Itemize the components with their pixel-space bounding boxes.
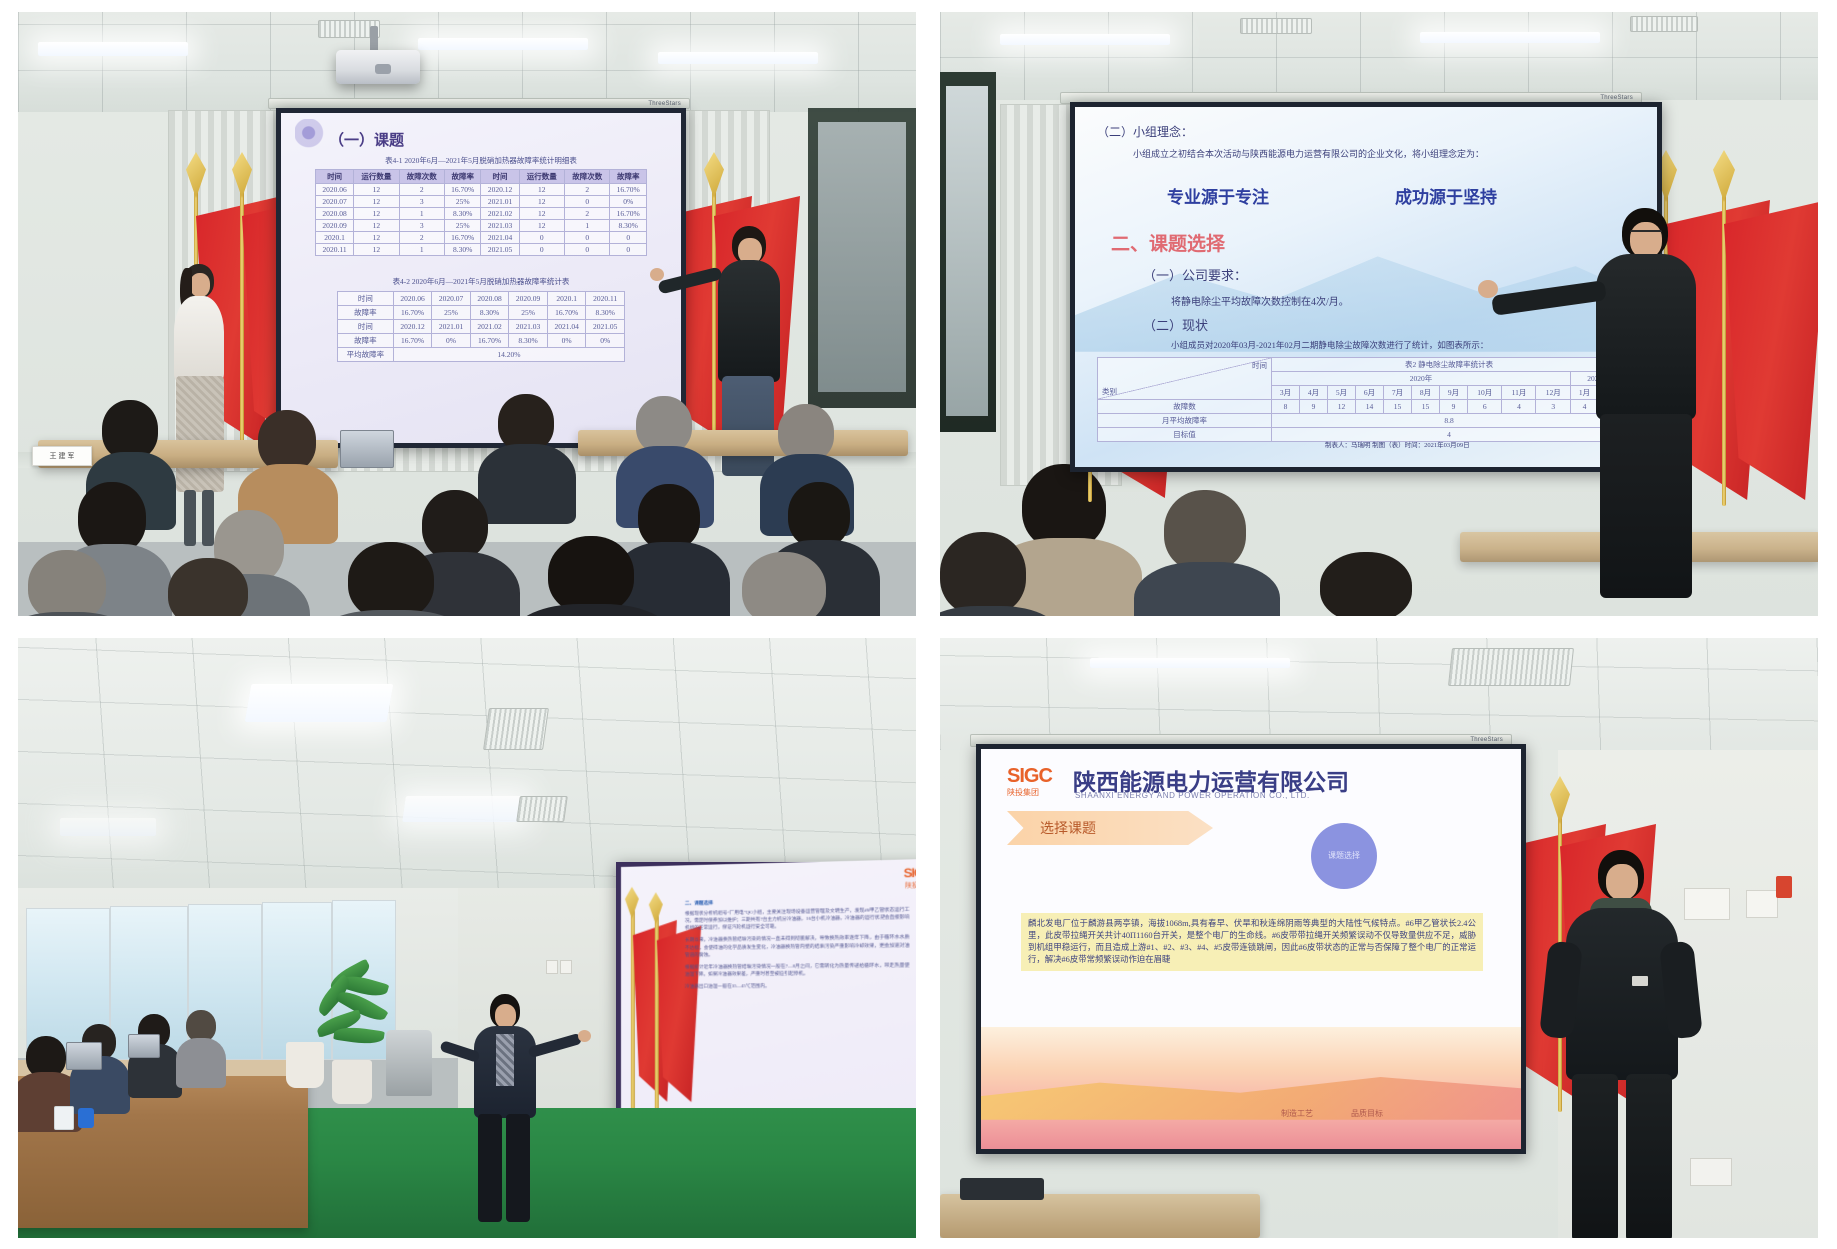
dense-paragraph-2: 长期以来，冷油器换热管结垢污染的情况一直未得到彻底解决，导致换热效率逐年下降，由… — [685, 933, 910, 958]
projector-brand-label: ThreeStars — [648, 101, 681, 107]
fault-count-cell: 14 — [1356, 400, 1384, 414]
table-header-cell: 故障率 — [610, 170, 647, 184]
table-footer-credit: 制表人：马瑞明 制图（表）时间：2021年03月09日 — [1325, 439, 1470, 449]
desk-nameplate: 王 建 军 — [32, 446, 92, 466]
dense-paragraph-4: 冷油器出口油温一般在35—45℃范围内。 — [685, 981, 910, 990]
table-cell: 0 — [610, 232, 647, 244]
wall-outlet-icon — [546, 960, 558, 974]
target-label: 目标值 — [1098, 428, 1272, 442]
table-cell: 12 — [519, 196, 564, 208]
sigc-logo: SIGC — [904, 865, 916, 880]
table-cell: 16.70% — [393, 306, 432, 320]
table-cell: 1 — [565, 220, 610, 232]
table-cell: 2020.06 — [316, 184, 354, 196]
table-cell: 2021.04 — [547, 320, 586, 334]
table-cell: 12 — [519, 184, 564, 196]
table-corner-cell: 时间类别 — [1098, 358, 1272, 400]
table-header-cell: 故障率 — [444, 170, 481, 184]
emergency-sign-icon — [1776, 876, 1792, 898]
table-cell: 0 — [565, 232, 610, 244]
table-cell: 12 — [519, 208, 564, 220]
table-row: 2020.081218.30%2021.0212216.70% — [316, 208, 647, 220]
slide-heading: （一）课题 — [329, 129, 404, 150]
current-status-label: （二）现状 — [1143, 315, 1208, 334]
standing-presenter — [1528, 850, 1728, 1238]
table-cell: 2020.11 — [316, 244, 354, 256]
photo-collage: ThreeStars （一）课题 表4-1 2020年6月—2021年5月脱硝加… — [0, 0, 1837, 1249]
table-row: 2020.0712325%2021.011200% — [316, 196, 647, 208]
table-row: 2020.112216.70%2021.04000 — [316, 232, 647, 244]
table-row: 故障率16.70%25%8.30%25%16.70%8.30% — [338, 306, 625, 320]
table-header-cell: 故障次数 — [565, 170, 610, 184]
monthly-average-label: 月平均故障率 — [1098, 414, 1272, 428]
table-cell: 2021.04 — [481, 232, 519, 244]
chest-logo — [1632, 976, 1648, 986]
desk-monitor-back — [960, 1178, 1044, 1200]
table-cell: 0% — [586, 334, 625, 348]
table-cell: 2021.02 — [470, 320, 509, 334]
table-row: 故障率16.70%0%16.70%8.30%0%0% — [338, 334, 625, 348]
table-row: 时间类别表2 静电除尘故障率统计表 — [1098, 358, 1627, 372]
table-cell: 2 — [399, 232, 444, 244]
table-row: 2020.0912325%2021.031218.30% — [316, 220, 647, 232]
fault-count-cell: 8 — [1272, 400, 1300, 414]
photo-top-left: ThreeStars （一）课题 表4-1 2020年6月—2021年5月脱硝加… — [18, 12, 916, 616]
average-value-cell: 14.20% — [393, 348, 624, 362]
table-cell: 25% — [432, 306, 471, 320]
table-cell: 2 — [399, 184, 444, 196]
sigc-sublabel: 陕投集团 — [1007, 787, 1039, 798]
table-month-cell: 4月 — [1300, 386, 1328, 400]
photo-top-right: ThreeStars （二）小组理念： 小组成立之初结合本次活动与陕西能源电力运… — [940, 12, 1818, 616]
table-cell: 2020.11 — [586, 292, 625, 306]
table-cell: 2020.08 — [470, 292, 509, 306]
table-row: 2020.111218.30%2021.05000 — [316, 244, 647, 256]
table-cell: 2 — [565, 208, 610, 220]
table1-caption: 表4-1 2020年6月—2021年5月脱硝加热器故障率统计明细表 — [281, 155, 681, 166]
table-cell: 0 — [519, 232, 564, 244]
table-cell: 12 — [519, 220, 564, 232]
sweater-pattern — [496, 1034, 514, 1086]
table-cell: 2020.12 — [393, 320, 432, 334]
table-cell: 2021.01 — [481, 196, 519, 208]
table-cell: 8.30% — [444, 208, 481, 220]
slogan-left: 专业源于专注 — [1167, 183, 1269, 208]
slogan-right: 成功源于坚持 — [1395, 183, 1497, 208]
table-cell: 时间 — [338, 320, 394, 334]
projection-screen-bottom-right: SIGC 陕投集团 陕西能源电力运营有限公司 SHAANXI ENERGY AN… — [976, 744, 1526, 1154]
table-cell: 16.70% — [444, 232, 481, 244]
average-label-cell: 平均故障率 — [338, 348, 394, 362]
dense-paragraph-1: 根据现状分析机组号“厂用电”QC小组，主要关注现场设备运营管理及文明生产，发现#… — [685, 906, 910, 932]
screen-brand-label: ThreeStars — [1470, 737, 1503, 743]
fault-count-cell: 4 — [1502, 400, 1536, 414]
table-cell: 0% — [610, 196, 647, 208]
team-philosophy-label: （二）小组理念： — [1097, 123, 1193, 140]
fault-count-cell: 15 — [1412, 400, 1440, 414]
table-cell: 0 — [519, 244, 564, 256]
table-cell: 1 — [399, 244, 444, 256]
team-philosophy-text: 小组成立之初结合本次活动与陕西能源电力运营有限公司的企业文化，将小组理念定为： — [1133, 147, 1484, 160]
table-header-cell: 运行数量 — [354, 170, 399, 184]
dense-paragraph-3: 根据统计近年冷油器换热管结垢污染情况一般在7—8月之间，它需转化为热量传递给循环… — [685, 961, 910, 977]
footer-tag-1: 制造工艺 — [1281, 1108, 1313, 1119]
water-bottle — [78, 1108, 94, 1128]
photo-bottom-right: ThreeStars SIGC 陕投集团 陕西能源电力运营有 — [940, 638, 1818, 1238]
table-cell: 2020.09 — [316, 220, 354, 232]
table-year-cell: 2020年 — [1272, 372, 1571, 386]
ribbon-label: 选择课题 — [1040, 818, 1096, 838]
table-row: 时间2020.122021.012021.022021.032021.04202… — [338, 320, 625, 334]
table-cell: 2021.01 — [432, 320, 471, 334]
table-month-cell: 11月 — [1502, 386, 1536, 400]
table-cell: 8.30% — [444, 244, 481, 256]
table-cell: 0 — [610, 244, 647, 256]
fault-count-cell: 9 — [1300, 400, 1328, 414]
table-cell: 2021.05 — [481, 244, 519, 256]
slide-bottom-right: SIGC 陕投集团 陕西能源电力运营有限公司 SHAANXI ENERGY AN… — [981, 749, 1521, 1149]
table-cell: 0 — [565, 196, 610, 208]
table-cell: 12 — [354, 196, 399, 208]
table-cell: 2020.1 — [316, 232, 354, 244]
small-plant-pot — [286, 1042, 324, 1088]
company-requirement-label: （一）公司要求： — [1143, 265, 1247, 284]
topic-description-box: 麟北发电厂位于麟游县两亭镇，海拔1068m,具有春早、伏旱和秋连绵阴雨等典型的大… — [1021, 913, 1483, 971]
paper-cup — [54, 1106, 74, 1130]
company-requirement-text: 将静电除尘平均故障次数控制在4次/月。 — [1171, 293, 1349, 308]
table-cell: 3 — [399, 196, 444, 208]
table-cell: 2020.12 — [481, 184, 519, 196]
table-cell: 2021.03 — [509, 320, 548, 334]
table-cell: 16.70% — [547, 306, 586, 320]
table-header-cell: 运行数量 — [519, 170, 564, 184]
standing-presenter — [454, 994, 574, 1224]
table-cell: 2021.03 — [481, 220, 519, 232]
table-cell: 2 — [565, 184, 610, 196]
topic-selection-ribbon: 选择课题 — [1007, 811, 1213, 845]
table-cell: 2021.02 — [481, 208, 519, 220]
table-cell: 0 — [565, 244, 610, 256]
table-month-cell: 10月 — [1468, 386, 1502, 400]
photo-bottom-left: SIGC 陕投集团 二、课题选择 根据现状分析机组号“厂用电”QC小组，主要关注… — [18, 638, 916, 1238]
table-cell: 2020.06 — [393, 292, 432, 306]
sigc-sublabel: 陕投集团 — [904, 880, 916, 890]
table-cell: 16.70% — [610, 208, 647, 220]
table-header-cell: 时间 — [316, 170, 354, 184]
table-cell: 2020.07 — [432, 292, 471, 306]
table-cell: 0% — [432, 334, 471, 348]
table-cell: 16.70% — [444, 184, 481, 196]
table2-caption: 表4-2 2020年6月—2021年5月脱硝加热器故障率统计表 — [281, 276, 681, 287]
table-header-cell: 故障次数 — [399, 170, 444, 184]
table-cell: 2021.05 — [586, 320, 625, 334]
table-cell: 12 — [354, 208, 399, 220]
standing-presenter — [1552, 208, 1742, 616]
table-month-cell: 9月 — [1440, 386, 1468, 400]
table-cell: 故障率 — [338, 306, 394, 320]
failure-rate-detail-table: 时间运行数量故障次数故障率时间运行数量故障次数故障率 2020.0612216.… — [315, 169, 647, 256]
wall-switch-icon — [560, 960, 572, 974]
fault-count-cell: 15 — [1384, 400, 1412, 414]
table-header-cell: 时间 — [481, 170, 519, 184]
table-cell: 8.30% — [509, 334, 548, 348]
failure-rate-summary-table: 时间2020.062020.072020.082020.092020.12020… — [337, 291, 625, 362]
table-cell: 8.30% — [610, 220, 647, 232]
table-cell: 12 — [354, 184, 399, 196]
footer-tag-2: 品质目标 — [1351, 1108, 1383, 1119]
table-cell: 16.70% — [470, 334, 509, 348]
table-row: 故障数8912141515964343 — [1098, 400, 1627, 414]
table-cell: 0% — [547, 334, 586, 348]
table-cell: 12 — [354, 220, 399, 232]
table-cell: 12 — [354, 232, 399, 244]
screen-brand-label: ThreeStars — [1600, 95, 1633, 101]
table-month-cell: 8月 — [1412, 386, 1440, 400]
sunset-graphic — [981, 1027, 1521, 1149]
topic-circle-badge: 课题选择 — [1311, 823, 1377, 889]
table-month-cell: 3月 — [1272, 386, 1300, 400]
ceiling-projector — [336, 50, 420, 84]
table-row-average: 平均故障率14.20% — [338, 348, 625, 362]
table-month-cell: 5月 — [1328, 386, 1356, 400]
section-title: 二、课题选择 — [1111, 229, 1225, 256]
company-name-en: SHAANXI ENERGY AND POWER OPERATION CO., … — [1075, 791, 1310, 800]
table-cell: 故障率 — [338, 334, 394, 348]
table-row: 2020.0612216.70%2020.1212216.70% — [316, 184, 647, 196]
table-cell: 12 — [354, 244, 399, 256]
table-cell: 2020.09 — [509, 292, 548, 306]
folding-chair — [386, 1030, 432, 1096]
fault-count-cell: 6 — [1468, 400, 1502, 414]
fault-count-cell: 12 — [1328, 400, 1356, 414]
table-cell: 8.30% — [586, 306, 625, 320]
table-cell: 16.70% — [393, 334, 432, 348]
table-cell: 8.30% — [470, 306, 509, 320]
table-cell: 25% — [444, 220, 481, 232]
table-cell: 25% — [509, 306, 548, 320]
table-row: 月平均故障率8.8 — [1098, 414, 1627, 428]
table-cell: 时间 — [338, 292, 394, 306]
table-row: 时间2020.062020.072020.082020.092020.12020… — [338, 292, 625, 306]
table-cell: 1 — [399, 208, 444, 220]
table-cell: 3 — [399, 220, 444, 232]
glasses-icon — [1630, 230, 1662, 239]
table-cell: 25% — [444, 196, 481, 208]
table-month-cell: 6月 — [1356, 386, 1384, 400]
dust-failure-statistics-table: 时间类别表2 静电除尘故障率统计表2020年2021年3月4月5月6月7月8月9… — [1097, 357, 1627, 442]
wall-outlet-icon — [1746, 890, 1778, 918]
dense-text-heading: 二、课题选择 — [685, 895, 910, 907]
table-cell: 2020.07 — [316, 196, 354, 208]
fault-count-label: 故障数 — [1098, 400, 1272, 414]
table-month-cell: 7月 — [1384, 386, 1412, 400]
current-status-text: 小组成员对2020年03月-2021年02月二期静电除尘故障次数进行了统计，如图… — [1171, 339, 1488, 351]
fault-count-cell: 9 — [1440, 400, 1468, 414]
sigc-logo: SIGC — [1007, 765, 1052, 788]
table-cell: 2020.08 — [316, 208, 354, 220]
table-cell: 16.70% — [610, 184, 647, 196]
table-cell: 2020.1 — [547, 292, 586, 306]
